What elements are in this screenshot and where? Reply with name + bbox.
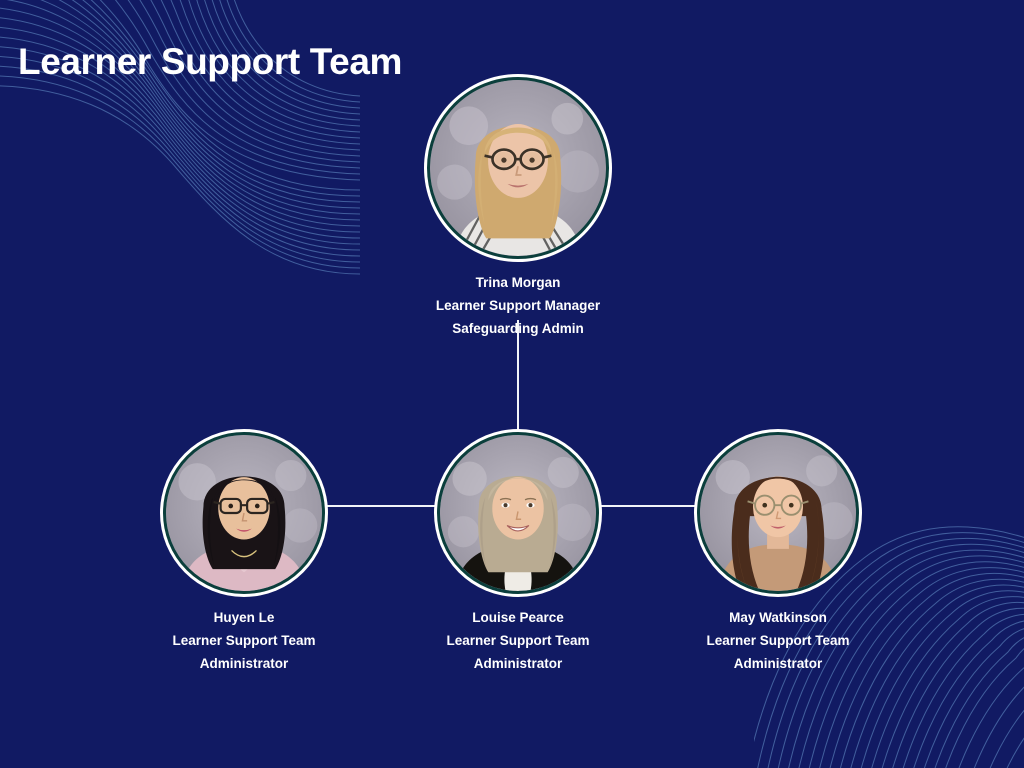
org-chart-slide: Learner Support Team — [0, 0, 1024, 768]
person-role-line-1: Learner Support Team — [172, 629, 315, 652]
connector-center-to-left — [326, 505, 436, 507]
org-node-admin-2[interactable]: Louise Pearce Learner Support Team Admin… — [434, 429, 602, 675]
person-role-line-2: Administrator — [706, 652, 849, 675]
person-name: May Watkinson — [706, 606, 849, 629]
avatar-ring — [697, 432, 859, 594]
avatar-ring — [163, 432, 325, 594]
org-node-label: May Watkinson Learner Support Team Admin… — [706, 606, 849, 675]
person-role-line-2: Administrator — [172, 652, 315, 675]
org-node-manager[interactable]: Trina Morgan Learner Support Manager Saf… — [424, 74, 612, 340]
avatar-ring — [437, 432, 599, 594]
person-role-line-2: Administrator — [446, 652, 589, 675]
page-title: Learner Support Team — [18, 42, 402, 83]
person-name: Huyen Le — [172, 606, 315, 629]
person-role-line-1: Learner Support Team — [446, 629, 589, 652]
person-role-line-1: Learner Support Team — [706, 629, 849, 652]
portrait-louise-pearce — [440, 435, 596, 591]
avatar — [434, 429, 602, 597]
person-name: Trina Morgan — [436, 271, 600, 294]
org-node-label: Louise Pearce Learner Support Team Admin… — [446, 606, 589, 675]
org-node-admin-1[interactable]: Huyen Le Learner Support Team Administra… — [160, 429, 328, 675]
avatar — [424, 74, 612, 262]
avatar — [160, 429, 328, 597]
avatar-ring — [427, 77, 609, 259]
portrait-trina-morgan — [430, 80, 606, 256]
avatar — [694, 429, 862, 597]
org-node-admin-3[interactable]: May Watkinson Learner Support Team Admin… — [694, 429, 862, 675]
person-name: Louise Pearce — [446, 606, 589, 629]
person-role-line-1: Learner Support Manager — [436, 294, 600, 317]
portrait-may-watkinson — [700, 435, 856, 591]
portrait-huyen-le — [166, 435, 322, 591]
org-node-label: Trina Morgan Learner Support Manager Saf… — [436, 271, 600, 340]
person-role-line-2: Safeguarding Admin — [436, 317, 600, 340]
org-node-label: Huyen Le Learner Support Team Administra… — [172, 606, 315, 675]
